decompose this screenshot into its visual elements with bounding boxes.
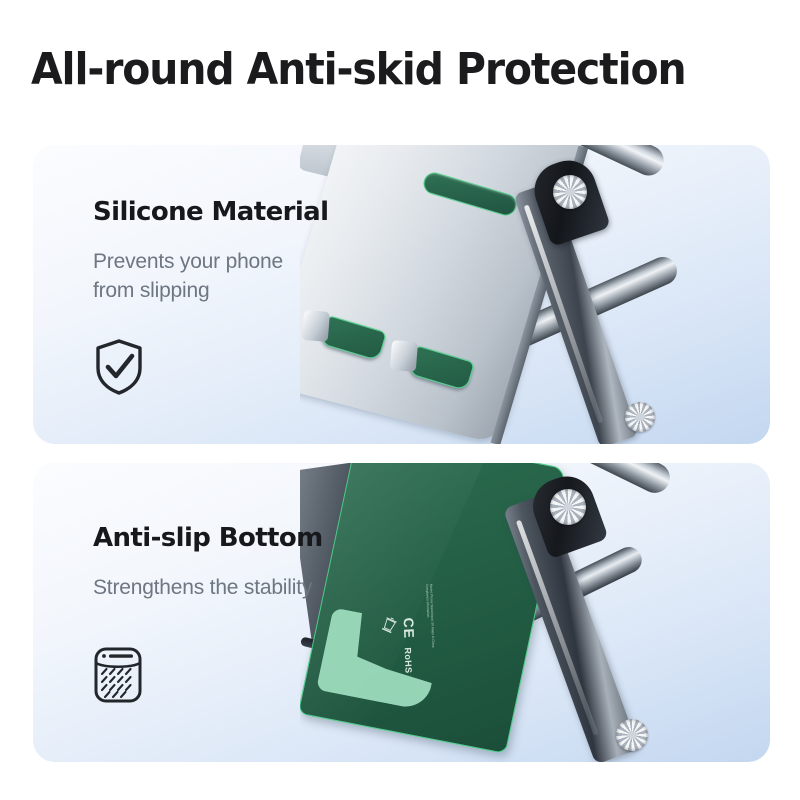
product-fineprint: Model: Phone Stand Input: 5V Made in Chi… [424,584,435,658]
product-photo-back: Model: Phone Stand Input: 5V Made in Chi… [300,463,770,762]
weee-bin-icon [380,614,399,635]
feature-text-block: Silicone Material Prevents your phone fr… [93,197,328,305]
feature-heading: Anti-slip Bottom [93,523,323,553]
rohs-mark: RoHS [403,647,414,674]
feature-description: Strengthens the stability [93,573,323,602]
product-photo-front [300,145,770,444]
hinge-screw-bottom-icon [625,402,655,432]
backplate-notch [316,607,443,711]
hinge-screw-top-icon [550,489,586,525]
compliance-marks: CE RoHS [399,617,419,674]
shield-check-icon [93,338,145,396]
feature-description: Prevents your phone from slipping [93,247,328,305]
feature-card-silicone-material: Silicone Material Prevents your phone fr… [33,145,770,444]
feature-card-anti-slip-bottom: Model: Phone Stand Input: 5V Made in Chi… [33,463,770,762]
feature-heading: Silicone Material [93,197,328,227]
page-title: All-round Anti-skid Protection [31,44,686,95]
product-feature-page: All-round Anti-skid Protection Silicone … [0,0,800,800]
hinge-screw-bottom-icon [616,719,648,751]
anti-slip-texture-icon [93,646,143,704]
hinge-screw-top-icon [553,175,587,209]
ce-mark: CE [401,617,418,639]
feature-text-block: Anti-slip Bottom Strengthens the stabili… [93,523,323,602]
